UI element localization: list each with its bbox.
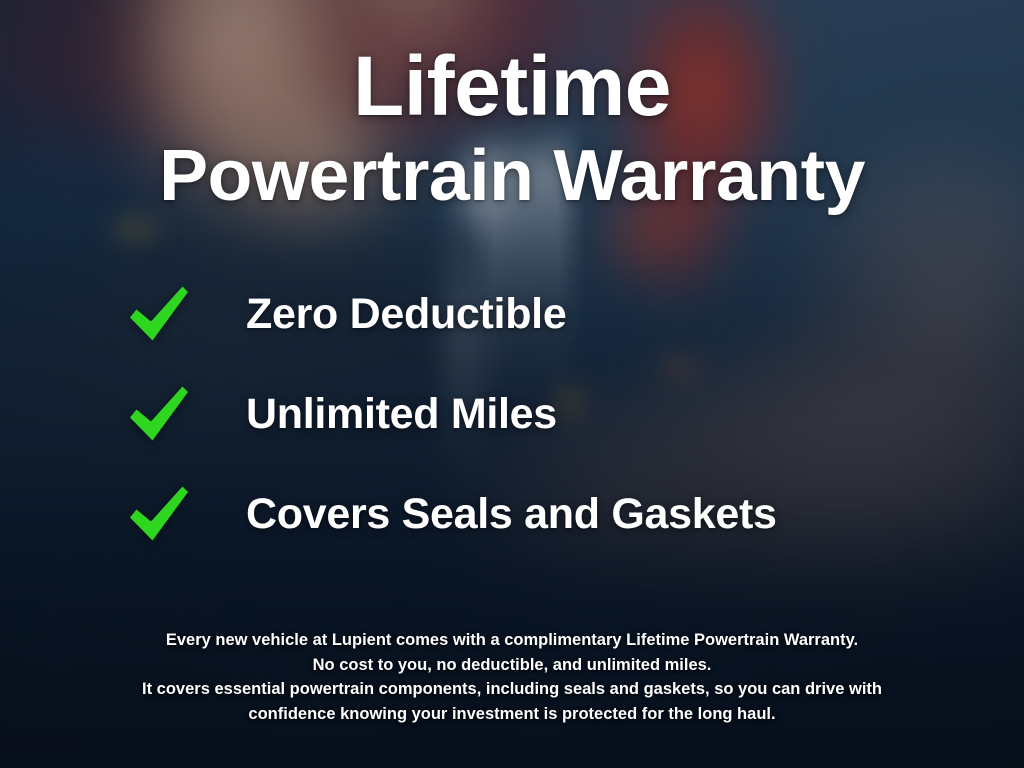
footnote-line-two: No cost to you, no deductible, and unlim… [60,653,964,677]
footnote-line-three: It covers essential powertrain component… [60,677,964,701]
banner-content: Lifetime Powertrain Warranty Zero Deduct… [0,0,1024,768]
benefit-label: Unlimited Miles [246,393,557,436]
green-checkmark-icon [126,281,192,347]
benefit-label: Zero Deductible [246,293,566,336]
benefit-item-zero-deductible: Zero Deductible [126,264,1024,364]
benefits-list: Zero Deductible Unlimited Miles Covers S… [0,264,1024,564]
warranty-promo-banner: Lifetime Powertrain Warranty Zero Deduct… [0,0,1024,768]
green-checkmark-icon [126,481,192,547]
footnote-line-four: confidence knowing your investment is pr… [60,702,964,726]
headline-block: Lifetime Powertrain Warranty [0,0,1024,212]
green-checkmark-icon [126,381,192,447]
benefit-item-unlimited-miles: Unlimited Miles [126,364,1024,464]
benefit-label: Covers Seals and Gaskets [246,493,777,536]
headline-line-two: Powertrain Warranty [0,140,1024,212]
benefit-item-covers-seals-and-gaskets: Covers Seals and Gaskets [126,464,1024,564]
footnote-block: Every new vehicle at Lupient comes with … [0,628,1024,768]
headline-line-one: Lifetime [0,44,1024,128]
footnote-line-one: Every new vehicle at Lupient comes with … [60,628,964,652]
